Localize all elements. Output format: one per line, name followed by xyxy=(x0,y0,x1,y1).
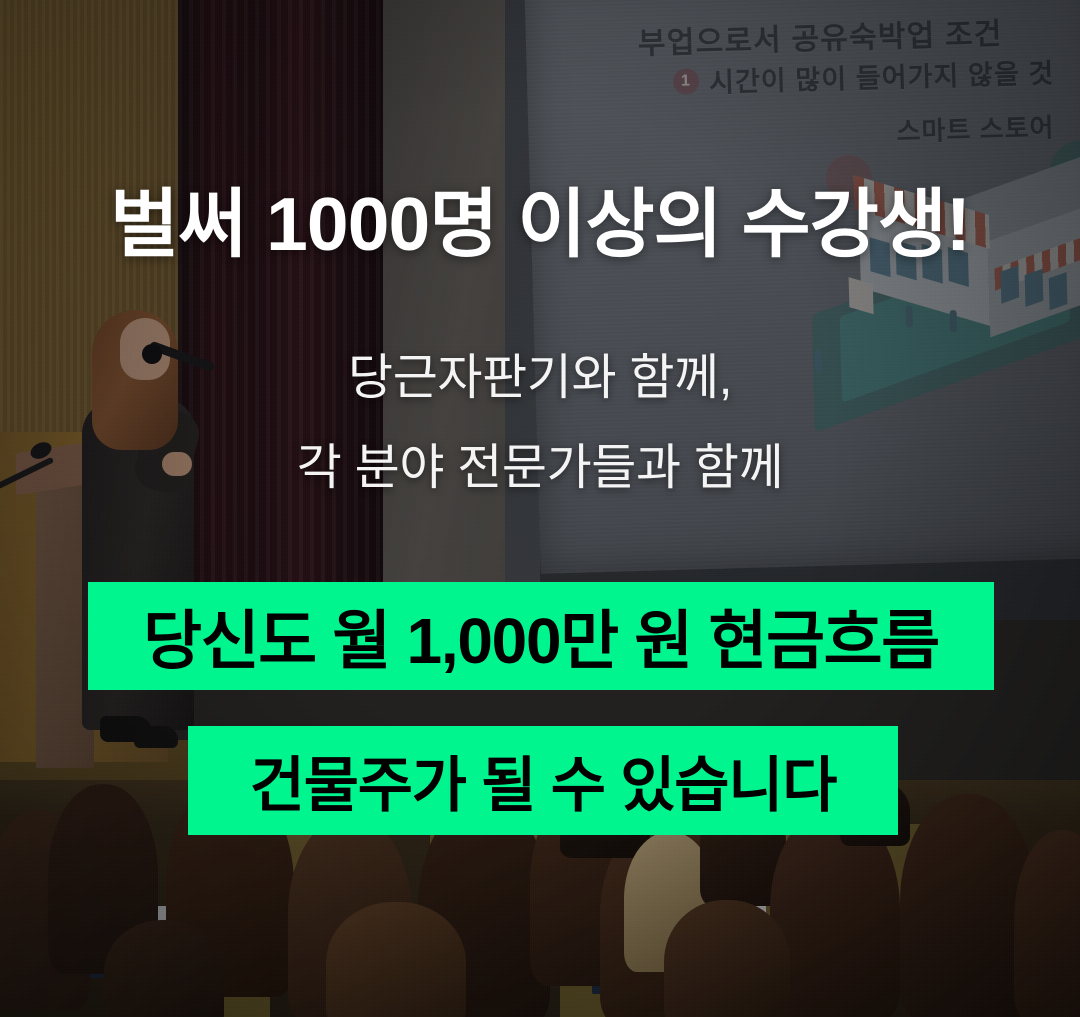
highlight-band-building-owner: 건물주가 될 수 있습니다 xyxy=(188,726,898,835)
subtitle-line-1: 당근자판기와 함께, xyxy=(0,352,1080,406)
headline: 벌써 1000명 이상의 수강생! xyxy=(0,185,1080,264)
promo-card: 부업으로서 공유숙박업 조건 1 시간이 많이 들어가지 않을 것 스마트 스토… xyxy=(0,0,1080,1017)
text-overlay: 벌써 1000명 이상의 수강생! 당근자판기와 함께, 각 분야 전문가들과 … xyxy=(0,0,1080,1017)
subtitle-line-2: 각 분야 전문가들과 함께 xyxy=(0,442,1080,496)
highlight-band-cashflow: 당신도 월 1,000만 원 현금흐름 xyxy=(88,582,994,690)
